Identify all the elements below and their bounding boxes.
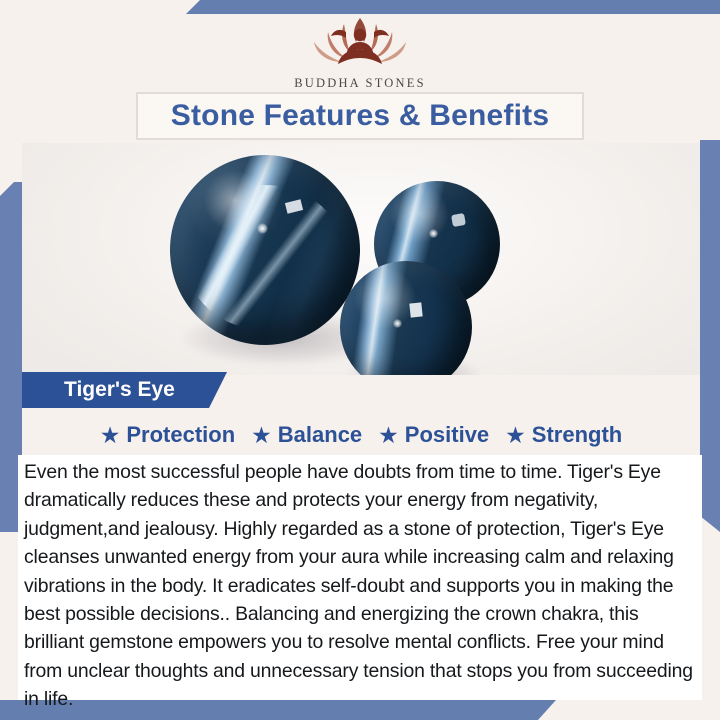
benefit-label: Strength <box>532 422 622 448</box>
brand-name: BUDDHA STONES <box>0 76 720 91</box>
brand-logo: BUDDHA STONES <box>0 12 720 91</box>
page-title-frame: Stone Features & Benefits <box>136 92 584 140</box>
bead-glint <box>393 319 402 328</box>
description-text: Even the most successful people have dou… <box>24 458 696 714</box>
benefit-label: Balance <box>278 422 362 448</box>
bead-highlight-chip <box>451 213 466 227</box>
bead-chatoyant-streak <box>185 185 345 329</box>
right-blue-bar-decoration <box>700 140 720 532</box>
benefit-label: Positive <box>405 422 489 448</box>
benefit-protection: ★ Protection <box>93 422 242 448</box>
star-icon: ★ <box>100 424 121 447</box>
benefit-balance: ★ Balance <box>244 422 369 448</box>
header: BUDDHA STONES Stone Features & Benefits <box>0 0 720 145</box>
large-bead <box>170 155 360 345</box>
description-panel: Even the most successful people have dou… <box>18 455 702 700</box>
stone-name-banner: Tiger's Eye <box>22 372 227 408</box>
lotus-meditation-icon <box>294 12 426 74</box>
benefit-positive: ★ Positive <box>371 422 496 448</box>
page-title: Stone Features & Benefits <box>171 99 549 133</box>
star-icon: ★ <box>378 424 399 447</box>
benefit-label: Protection <box>126 422 235 448</box>
benefit-strength: ★ Strength <box>498 422 629 448</box>
stone-name-label: Tiger's Eye <box>22 378 175 402</box>
bead-highlight-chip <box>409 303 422 318</box>
star-icon: ★ <box>251 424 272 447</box>
star-icon: ★ <box>505 424 526 447</box>
bead-glint <box>429 229 438 238</box>
infographic-page: BUDDHA STONES Stone Features & Benefits … <box>0 0 720 720</box>
gemstone-photo <box>22 143 700 375</box>
benefits-row: ★ Protection ★ Balance ★ Positive ★ Stre… <box>22 416 700 454</box>
